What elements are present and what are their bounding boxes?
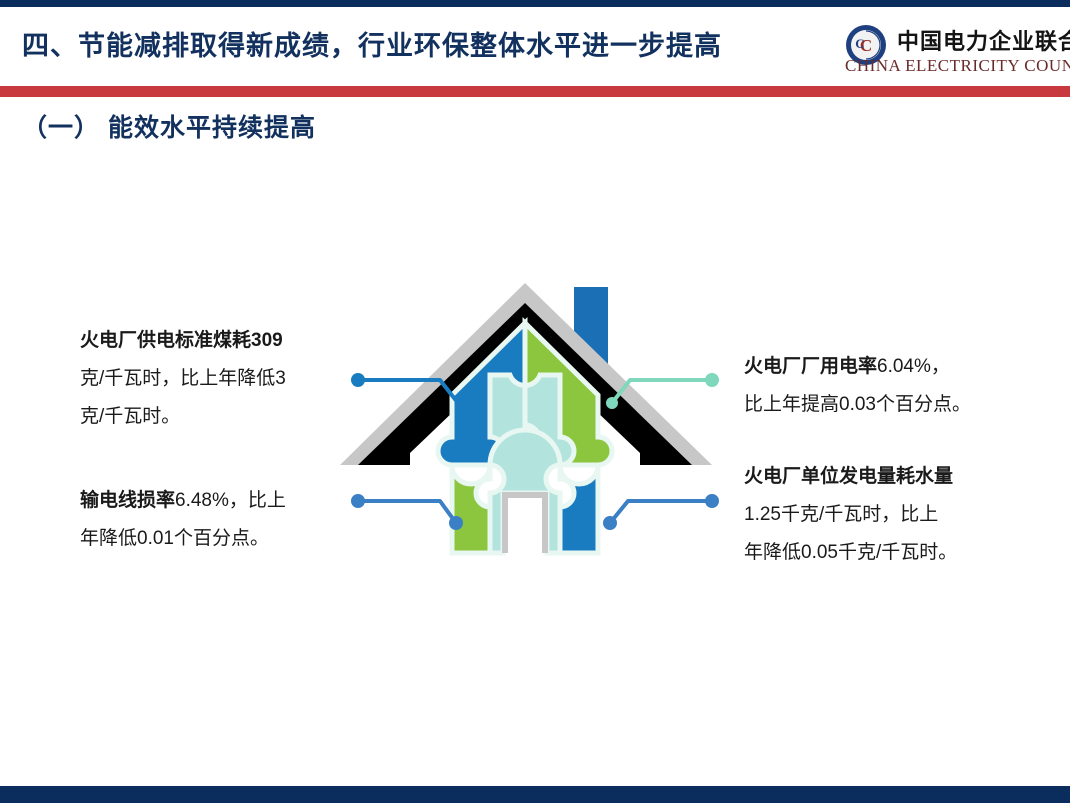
callout-water-line2: 1.25千克/千瓦时，比上 <box>744 496 957 534</box>
connector-coal-dot <box>351 373 365 387</box>
callout-water-consumption: 火电厂单位发电量耗水量 1.25千克/千瓦时，比上 年降低0.05千克/千瓦时。 <box>744 458 957 572</box>
connector-water-line <box>610 501 712 523</box>
callout-coal-line1: 火电厂供电标准煤耗309 <box>80 322 286 360</box>
callout-line-loss-value: 6.48%，比上 <box>175 490 286 511</box>
header-red-rule <box>0 86 1070 97</box>
connector-water-dot-inner <box>603 516 617 530</box>
callout-water-line3: 年降低0.05千克/千瓦时。 <box>744 534 957 572</box>
callout-aux-line1: 火电厂厂用电率6.04%， <box>744 348 971 386</box>
slide-canvas: 四、节能减排取得新成绩，行业环保整体水平进一步提高 （一） 能效水平持续提高 C… <box>0 0 1070 803</box>
puzzle-house-diagram <box>340 275 730 575</box>
connector-line-loss-line <box>358 501 456 523</box>
page-title: 四、节能减排取得新成绩，行业环保整体水平进一步提高 <box>22 24 722 63</box>
puzzle-piece-lower-centre <box>490 430 560 553</box>
logo-english-name: CHINA ELECTRICITY COUNCIL <box>845 56 1070 76</box>
svg-text:C: C <box>855 36 864 51</box>
callout-aux-power-rate: 火电厂厂用电率6.04%， 比上年提高0.03个百分点。 <box>744 348 971 424</box>
callout-aux-emphasis: 火电厂厂用电率 <box>744 356 877 377</box>
top-navy-rule <box>0 0 1070 7</box>
callout-aux-line2: 比上年提高0.03个百分点。 <box>744 386 971 424</box>
logo-chinese-name: 中国电力企业联合会 <box>897 24 1070 56</box>
puzzle-piece-lower-left <box>452 465 490 553</box>
callout-line-loss-emphasis: 输电线损率 <box>80 490 175 511</box>
door-shape <box>505 495 545 553</box>
callout-water-line1: 火电厂单位发电量耗水量 <box>744 458 957 496</box>
connector-aux-dot-inner <box>606 397 618 409</box>
callout-coal-line2: 克/千瓦时，比上年降低3 <box>80 360 286 398</box>
callout-line-loss-line1: 输电线损率6.48%，比上 <box>80 482 286 520</box>
callout-line-loss-line2: 年降低0.01个百分点。 <box>80 520 286 558</box>
callout-line-loss: 输电线损率6.48%，比上 年降低0.01个百分点。 <box>80 482 286 558</box>
connector-line-loss-dot-outer <box>351 494 365 508</box>
callout-coal-consumption: 火电厂供电标准煤耗309 克/千瓦时，比上年降低3 克/千瓦时。 <box>80 322 286 436</box>
callout-aux-value: 6.04%， <box>877 356 950 377</box>
connector-water-dot-outer <box>705 494 719 508</box>
footer-navy-bar <box>0 786 1070 803</box>
connector-aux-dot-outer <box>705 373 719 387</box>
puzzle-piece-lower-right <box>560 465 598 553</box>
connector-line-loss-dot-inner <box>449 516 463 530</box>
callout-coal-line3: 克/千瓦时。 <box>80 398 286 436</box>
section-title: （一） 能效水平持续提高 <box>22 108 316 144</box>
cec-logo: C C 中国电力企业联合会 CHINA ELECTRICITY COUNCIL <box>845 20 1063 82</box>
